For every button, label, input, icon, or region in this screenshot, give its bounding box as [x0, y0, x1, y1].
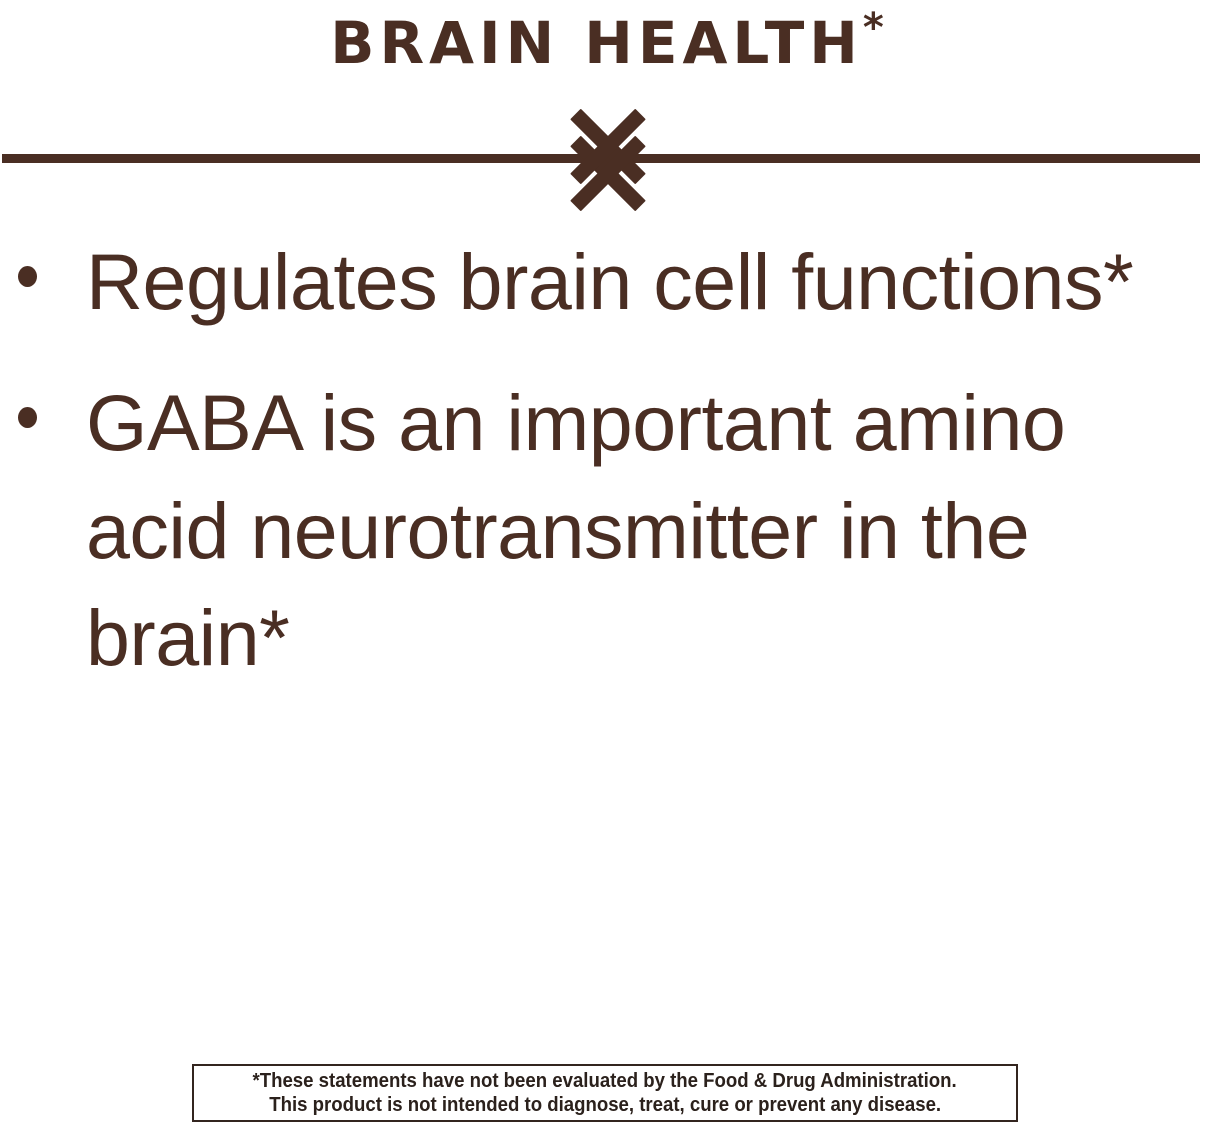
- title-text: BRAIN HEALTH*: [330, 8, 884, 72]
- list-item: Regulates brain cell functions*: [0, 228, 1214, 335]
- list-item-label: GABA is an important amino acid neurotra…: [86, 369, 1191, 691]
- bullet-dot-icon: [18, 407, 37, 428]
- page-title: BRAIN HEALTH*: [0, 0, 1214, 78]
- rotated-hash-ornament-icon: [560, 114, 656, 206]
- list-item: GABA is an important amino acid neurotra…: [0, 369, 1214, 691]
- title-label: BRAIN HEALTH: [330, 9, 863, 77]
- fda-disclaimer-box: *These statements have not been evaluate…: [192, 1064, 1018, 1122]
- bullet-dot-icon: [18, 266, 37, 287]
- section-divider: [0, 110, 1214, 208]
- title-footnote-asterisk: *: [863, 5, 884, 51]
- disclaimer-line-1: *These statements have not been evaluate…: [253, 1069, 957, 1093]
- list-item-label: Regulates brain cell functions*: [86, 228, 1191, 335]
- disclaimer-line-2: This product is not intended to diagnose…: [269, 1093, 941, 1117]
- benefits-list: Regulates brain cell functions* GABA is …: [0, 228, 1214, 726]
